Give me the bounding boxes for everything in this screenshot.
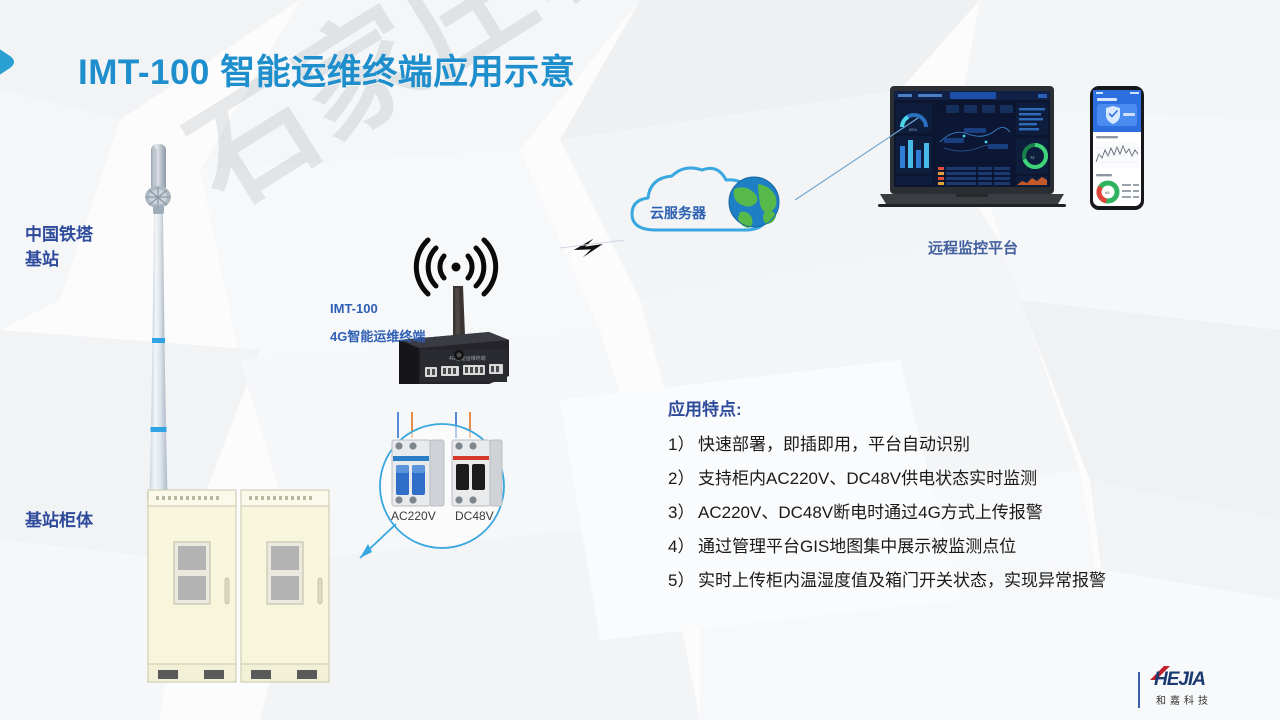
feature-text: 通过管理平台GIS地图集中展示被监测点位 [698, 535, 1248, 558]
feature-text: 快速部署，即插即用，平台自动识别 [698, 433, 1248, 456]
laptop-dashboard: 85% 72 [878, 84, 1066, 216]
feature-text: AC220V、DC48V断电时通过4G方式上传报警 [698, 501, 1248, 524]
feature-text: 实时上传柜内温湿度值及箱门开关状态，实现异常报警 [698, 569, 1248, 592]
lightning-bolt-icon [570, 234, 605, 264]
globe-icon [729, 177, 779, 228]
imt-100-device: 4G智能运维终端 [393, 236, 519, 401]
cabinet-label: 基站柜体 [25, 506, 93, 531]
svg-text:72: 72 [1030, 155, 1035, 160]
tower-label-line2: 基站 [25, 250, 59, 269]
tower-label: 中国铁塔 基站 [25, 222, 93, 272]
logo-subtitle: 和嘉科技 [1156, 692, 1212, 707]
breaker-label-dc: DC48V [455, 509, 494, 523]
device-model-label: IMT-100 [330, 301, 378, 316]
feature-item: 4） 通过管理平台GIS地图集中展示被监测点位 [668, 535, 1248, 558]
logo-divider [1138, 672, 1140, 708]
feature-item: 3） AC220V、DC48V断电时通过4G方式上传报警 [668, 501, 1248, 524]
mobile-app-screen: 68 [1086, 84, 1148, 212]
device-desc-label: 4G智能运维终端 [330, 326, 425, 345]
feature-number: 3） [668, 501, 698, 524]
feature-item: 5） 实时上传柜内温湿度值及箱门开关状态，实现异常报警 [668, 569, 1248, 592]
platform-label: 远程监控平台 [928, 237, 1018, 258]
page-title: IMT-100 智能运维终端应用示意 [78, 44, 575, 95]
feature-number: 5） [668, 569, 698, 592]
circuit-breaker-callout [352, 412, 532, 572]
wifi-signal-icon [416, 240, 495, 294]
svg-text:85%: 85% [909, 127, 917, 132]
feature-text: 支持柜内AC220V、DC48V供电状态实时监测 [698, 467, 1248, 490]
features-heading: 应用特点: [668, 395, 1248, 420]
cloud-label: 云服务器 [650, 203, 706, 223]
feature-number: 2） [668, 467, 698, 490]
cell-tower-illustration [140, 140, 190, 500]
slide-canvas: 石家庄和嘉科技有限公司 IMT-100 智能运维终端应用示意 [0, 0, 1280, 720]
features-block: 应用特点: 1） 快速部署，即插即用，平台自动识别 2） 支持柜内AC220V、… [668, 395, 1248, 603]
feature-item: 2） 支持柜内AC220V、DC48V供电状态实时监测 [668, 467, 1248, 490]
cloud-server-illustration [622, 162, 802, 242]
tower-label-line1: 中国铁塔 [25, 225, 93, 244]
svg-text:68: 68 [1105, 190, 1110, 195]
feature-item: 1） 快速部署，即插即用，平台自动识别 [668, 433, 1248, 456]
chevron-right-arrow-icon [0, 22, 46, 102]
base-station-cabinets [146, 486, 336, 686]
feature-number: 1） [668, 433, 698, 456]
breaker-label-ac: AC220V [391, 509, 436, 523]
logo-wordmark: HEJIA [1154, 669, 1205, 691]
feature-number: 4） [668, 535, 698, 558]
